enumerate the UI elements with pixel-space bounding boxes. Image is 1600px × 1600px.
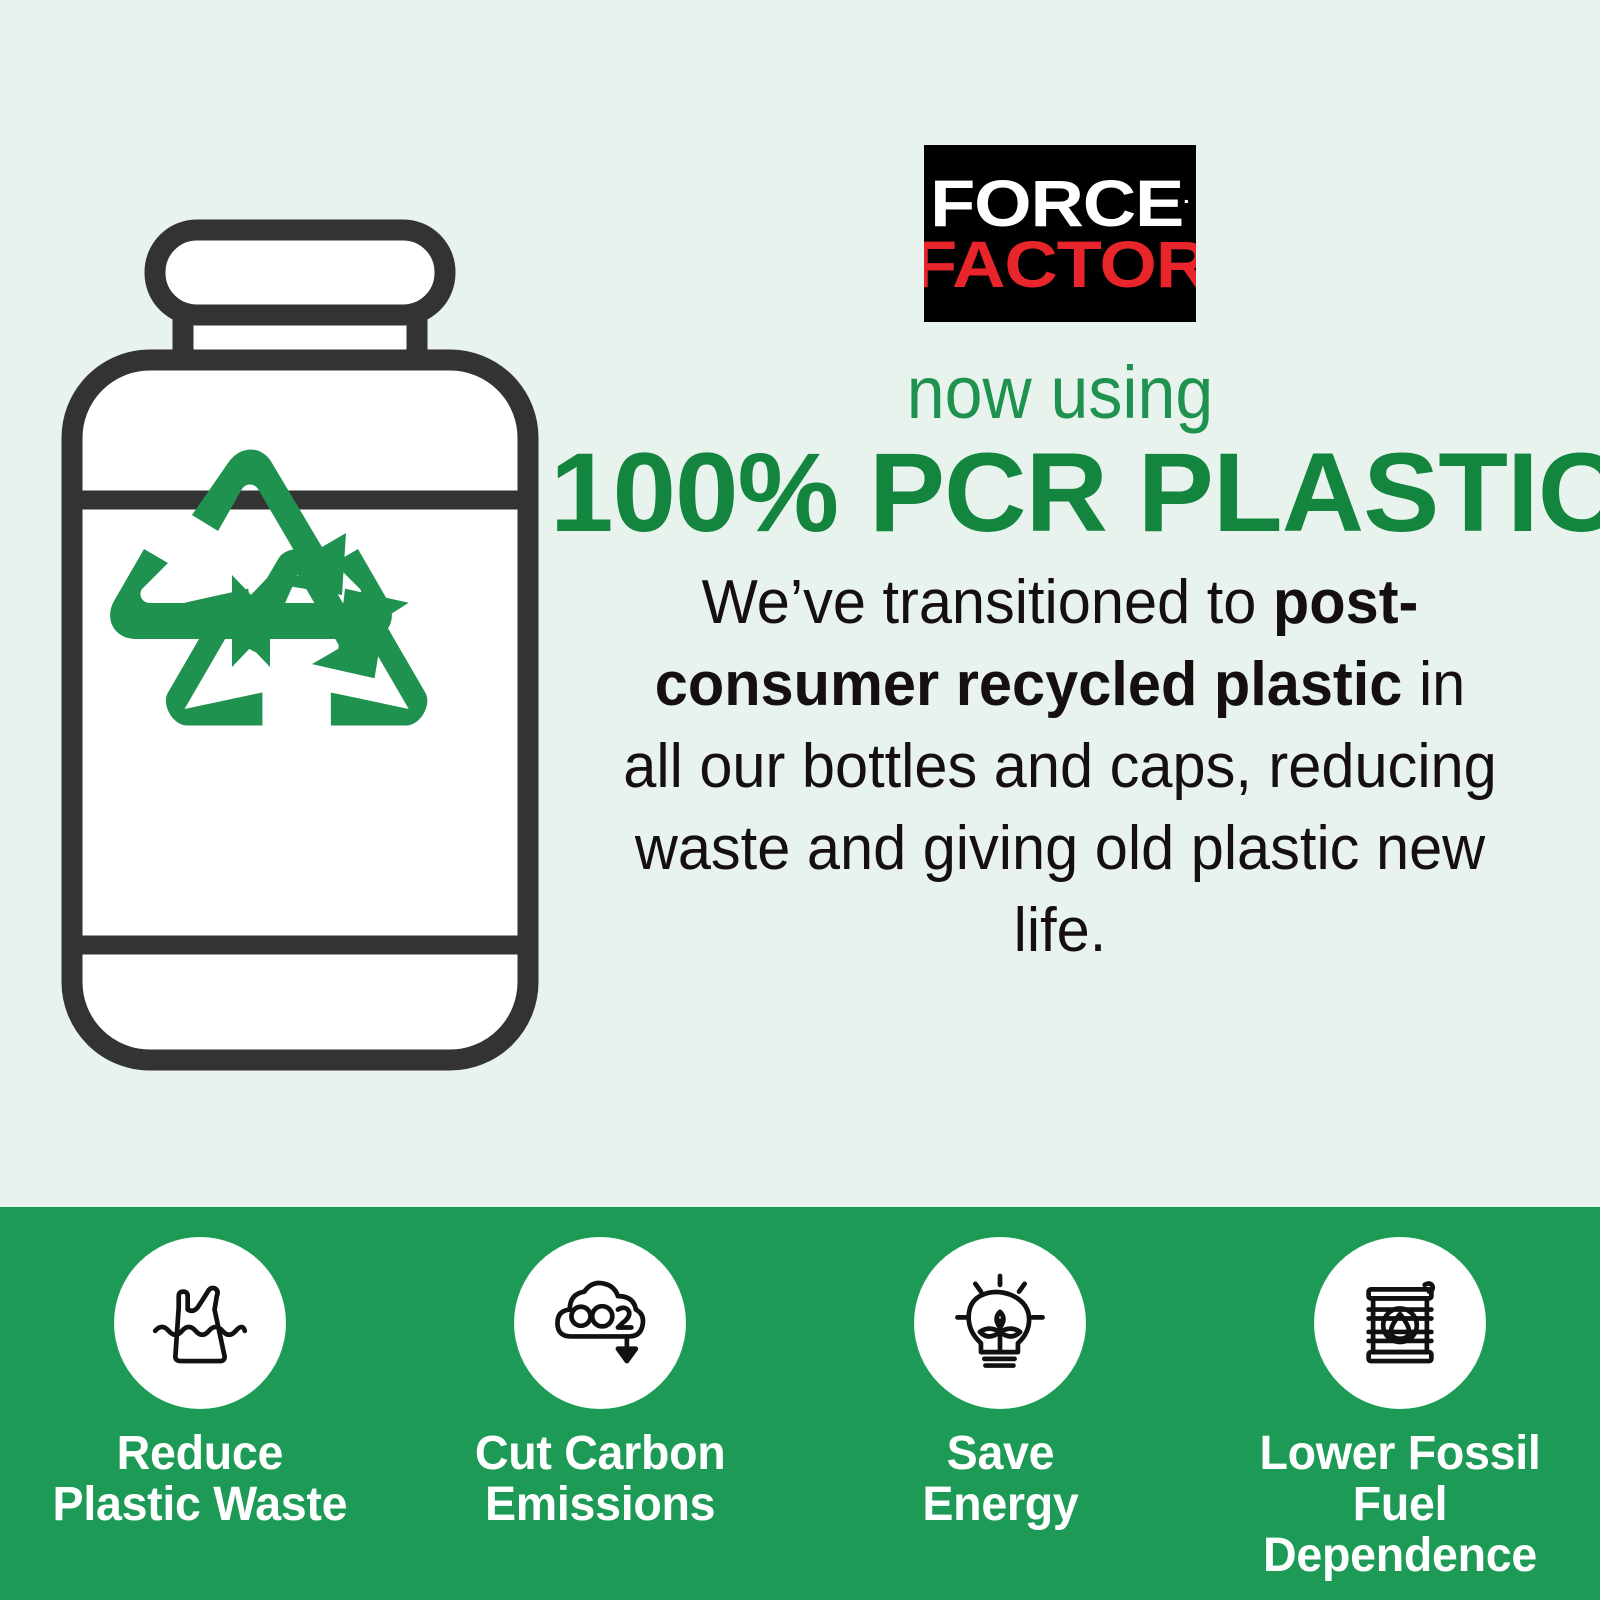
benefit-item-cut-carbon-emissions: Cut Carbon Emissions (400, 1237, 800, 1600)
eyebrow-text: now using (600, 356, 1520, 430)
benefits-row: Reduce Plastic Waste Cut Carbon Emission… (0, 1207, 1600, 1600)
benefit-icon-circle (914, 1237, 1086, 1409)
benefit-label: Reduce Plastic Waste (53, 1429, 348, 1531)
benefit-label: Lower Fossil Fuel Dependence (1206, 1429, 1594, 1582)
benefits-banner: Reduce Plastic Waste Cut Carbon Emission… (0, 1207, 1600, 1600)
benefit-label: Save Energy (922, 1429, 1078, 1531)
registered-mark: . (1183, 186, 1189, 208)
benefit-label: Cut Carbon Emissions (475, 1429, 726, 1531)
plastic-bag-in-water-icon (144, 1267, 256, 1379)
benefit-item-save-energy: Save Energy (800, 1237, 1200, 1600)
oil-barrel-icon (1344, 1267, 1456, 1379)
logo-line-force: FORCE. (930, 174, 1189, 232)
co2-cloud-down-arrow-icon (544, 1267, 656, 1379)
benefit-icon-circle (1314, 1237, 1486, 1409)
benefit-item-lower-fossil-fuel-dependence: Lower Fossil Fuel Dependence (1200, 1237, 1600, 1600)
body-copy-part1: We’ve transitioned to (702, 568, 1273, 637)
lightbulb-plant-icon (944, 1267, 1056, 1379)
supplement-bottle-illustration (55, 215, 545, 1075)
benefit-icon-circle (514, 1237, 686, 1409)
hero-text-column: FORCE. FACTOR now using 100% PCR PLASTIC… (560, 130, 1560, 1090)
page-title: 100% PCR PLASTIC (550, 436, 1570, 550)
body-copy: We’ve transitioned to post-consumer recy… (580, 562, 1540, 971)
hero-section: FORCE. FACTOR now using 100% PCR PLASTIC… (0, 0, 1600, 1202)
benefit-item-reduce-plastic-waste: Reduce Plastic Waste (0, 1237, 400, 1600)
force-factor-logo: FORCE. FACTOR (924, 145, 1196, 322)
logo-line-factor: FACTOR (924, 235, 1196, 293)
benefit-icon-circle (114, 1237, 286, 1409)
